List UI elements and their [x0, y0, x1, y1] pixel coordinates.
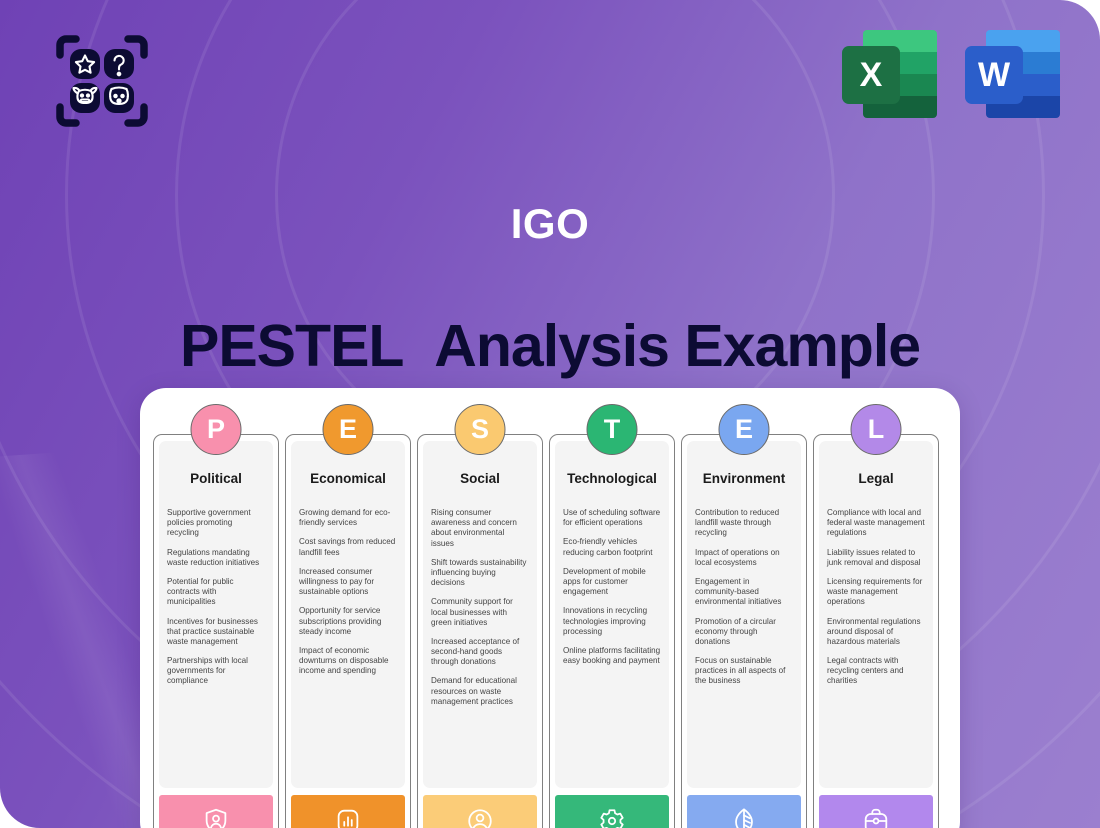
list-item: Liability issues related to junk removal…	[827, 548, 925, 568]
pestel-column-environment[interactable]: EEnvironmentContribution to reduced land…	[681, 434, 807, 828]
list-item: Shift towards sustainability influencing…	[431, 558, 529, 589]
list-item: Compliance with local and federal waste …	[827, 508, 925, 539]
column-letter-badge: P	[191, 404, 242, 455]
page-title-main: PESTEL	[180, 313, 404, 379]
column-title: Technological	[563, 471, 661, 486]
column-letter-badge: T	[587, 404, 638, 455]
list-item: Eco-friendly vehicles reducing carbon fo…	[563, 537, 661, 557]
list-item: Community support for local businesses w…	[431, 597, 529, 628]
column-icon-tile[interactable]	[555, 795, 669, 828]
column-letter-badge: L	[851, 404, 902, 455]
list-item: Potential for public contracts with muni…	[167, 577, 265, 608]
list-item: Online platforms facilitating easy booki…	[563, 646, 661, 666]
column-panel: EnvironmentContribution to reduced landf…	[687, 441, 801, 788]
list-item: Increased acceptance of second-hand good…	[431, 637, 529, 668]
list-item: Rising consumer awareness and concern ab…	[431, 508, 529, 549]
column-panel: TechnologicalUse of scheduling software …	[555, 441, 669, 788]
brand-name: IGO	[0, 200, 1100, 248]
column-item-list: Contribution to reduced landfill waste t…	[695, 508, 793, 687]
briefcase-icon	[861, 806, 891, 828]
list-item: Innovations in recycling technologies im…	[563, 606, 661, 637]
list-item: Increased consumer willingness to pay fo…	[299, 567, 397, 598]
office-icons-group: XW	[842, 30, 1060, 122]
column-panel: PoliticalSupportive government policies …	[159, 441, 273, 788]
column-item-list: Compliance with local and federal waste …	[827, 508, 925, 687]
list-item: Partnerships with local governments for …	[167, 656, 265, 687]
pestel-columns: PPoliticalSupportive government policies…	[153, 434, 947, 828]
column-item-list: Use of scheduling software for efficient…	[563, 508, 661, 666]
question-dot	[118, 73, 121, 76]
column-panel: SocialRising consumer awareness and conc…	[423, 441, 537, 788]
list-item: Growing demand for eco-friendly services	[299, 508, 397, 528]
poster-background: XW IGO PESTEL Analysis Example PPolitica…	[0, 0, 1100, 828]
list-item: Engagement in community-based environmen…	[695, 577, 793, 608]
shield-person-icon	[201, 806, 231, 828]
page-title-sub: Analysis Example	[434, 313, 920, 379]
list-item: Legal contracts with recycling centers a…	[827, 656, 925, 687]
pestel-card: PPoliticalSupportive government policies…	[140, 388, 960, 828]
leaf-icon	[729, 806, 759, 828]
list-item: Incentives for businesses that practice …	[167, 617, 265, 648]
column-letter-badge: E	[323, 404, 374, 455]
list-item: Promotion of a circular economy through …	[695, 617, 793, 648]
list-item: Development of mobile apps for customer …	[563, 567, 661, 598]
word-icon-letter: W	[965, 46, 1023, 104]
column-panel: EconomicalGrowing demand for eco-friendl…	[291, 441, 405, 788]
pestel-column-social[interactable]: SSocialRising consumer awareness and con…	[417, 434, 543, 828]
word-icon[interactable]: W	[965, 30, 1060, 122]
list-item: Opportunity for service subscriptions pr…	[299, 606, 397, 637]
list-item: Regulations mandating waste reduction in…	[167, 548, 265, 568]
column-item-list: Supportive government policies promoting…	[167, 508, 265, 687]
pestel-column-technological[interactable]: TTechnologicalUse of scheduling software…	[549, 434, 675, 828]
list-item: Supportive government policies promoting…	[167, 508, 265, 539]
column-title: Environment	[695, 471, 793, 486]
gear-icon	[597, 806, 627, 828]
column-title: Social	[431, 471, 529, 486]
column-panel: LegalCompliance with local and federal w…	[819, 441, 933, 788]
list-item: Impact of operations on local ecosystems	[695, 548, 793, 568]
pestel-column-economical[interactable]: EEconomicalGrowing demand for eco-friend…	[285, 434, 411, 828]
column-icon-tile[interactable]	[687, 795, 801, 828]
pestel-column-legal[interactable]: LLegalCompliance with local and federal …	[813, 434, 939, 828]
list-item: Cost savings from reduced landfill fees	[299, 537, 397, 557]
column-icon-tile[interactable]	[291, 795, 405, 828]
excel-icon[interactable]: X	[842, 30, 937, 122]
column-title: Political	[167, 471, 265, 486]
column-icon-tile[interactable]	[159, 795, 273, 828]
list-item: Licensing requirements for waste managem…	[827, 577, 925, 608]
column-title: Economical	[299, 471, 397, 486]
column-item-list: Growing demand for eco-friendly services…	[299, 508, 397, 676]
list-item: Demand for educational resources on wast…	[431, 676, 529, 707]
excel-icon-letter: X	[842, 46, 900, 104]
user-circle-icon	[465, 806, 495, 828]
column-letter-badge: E	[719, 404, 770, 455]
list-item: Focus on sustainable practices in all as…	[695, 656, 793, 687]
column-letter-badge: S	[455, 404, 506, 455]
list-item: Contribution to reduced landfill waste t…	[695, 508, 793, 539]
list-item: Use of scheduling software for efficient…	[563, 508, 661, 528]
bar-chart-icon	[333, 806, 363, 828]
page-title: PESTEL Analysis Example	[0, 312, 1100, 380]
list-item: Environmental regulations around disposa…	[827, 617, 925, 648]
column-item-list: Rising consumer awareness and concern ab…	[431, 508, 529, 707]
scan-frame-icons-logo	[52, 31, 152, 131]
column-title: Legal	[827, 471, 925, 486]
column-icon-tile[interactable]	[819, 795, 933, 828]
list-item: Impact of economic downturns on disposab…	[299, 646, 397, 677]
column-icon-tile[interactable]	[423, 795, 537, 828]
pestel-column-political[interactable]: PPoliticalSupportive government policies…	[153, 434, 279, 828]
